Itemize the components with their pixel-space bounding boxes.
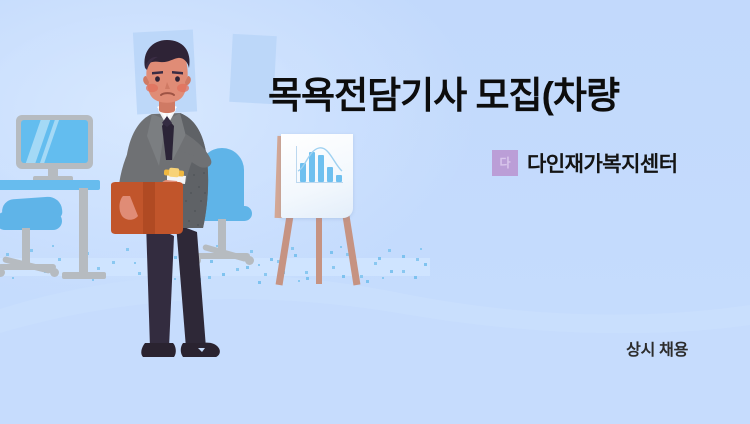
company-badge-icon: 다 xyxy=(492,150,518,176)
job-posting-poster: 목욕전담기사 모집(차량 다 다인재가복지센터 상시 채용 xyxy=(0,0,750,424)
businessman-illustration xyxy=(0,0,750,424)
page-title: 목욕전담기사 모집(차량 xyxy=(268,74,750,118)
status-badge: 상시 채용 xyxy=(626,336,688,360)
company-row[interactable]: 다 다인재가복지센터 xyxy=(492,148,678,178)
company-name[interactable]: 다인재가복지센터 xyxy=(527,148,678,178)
